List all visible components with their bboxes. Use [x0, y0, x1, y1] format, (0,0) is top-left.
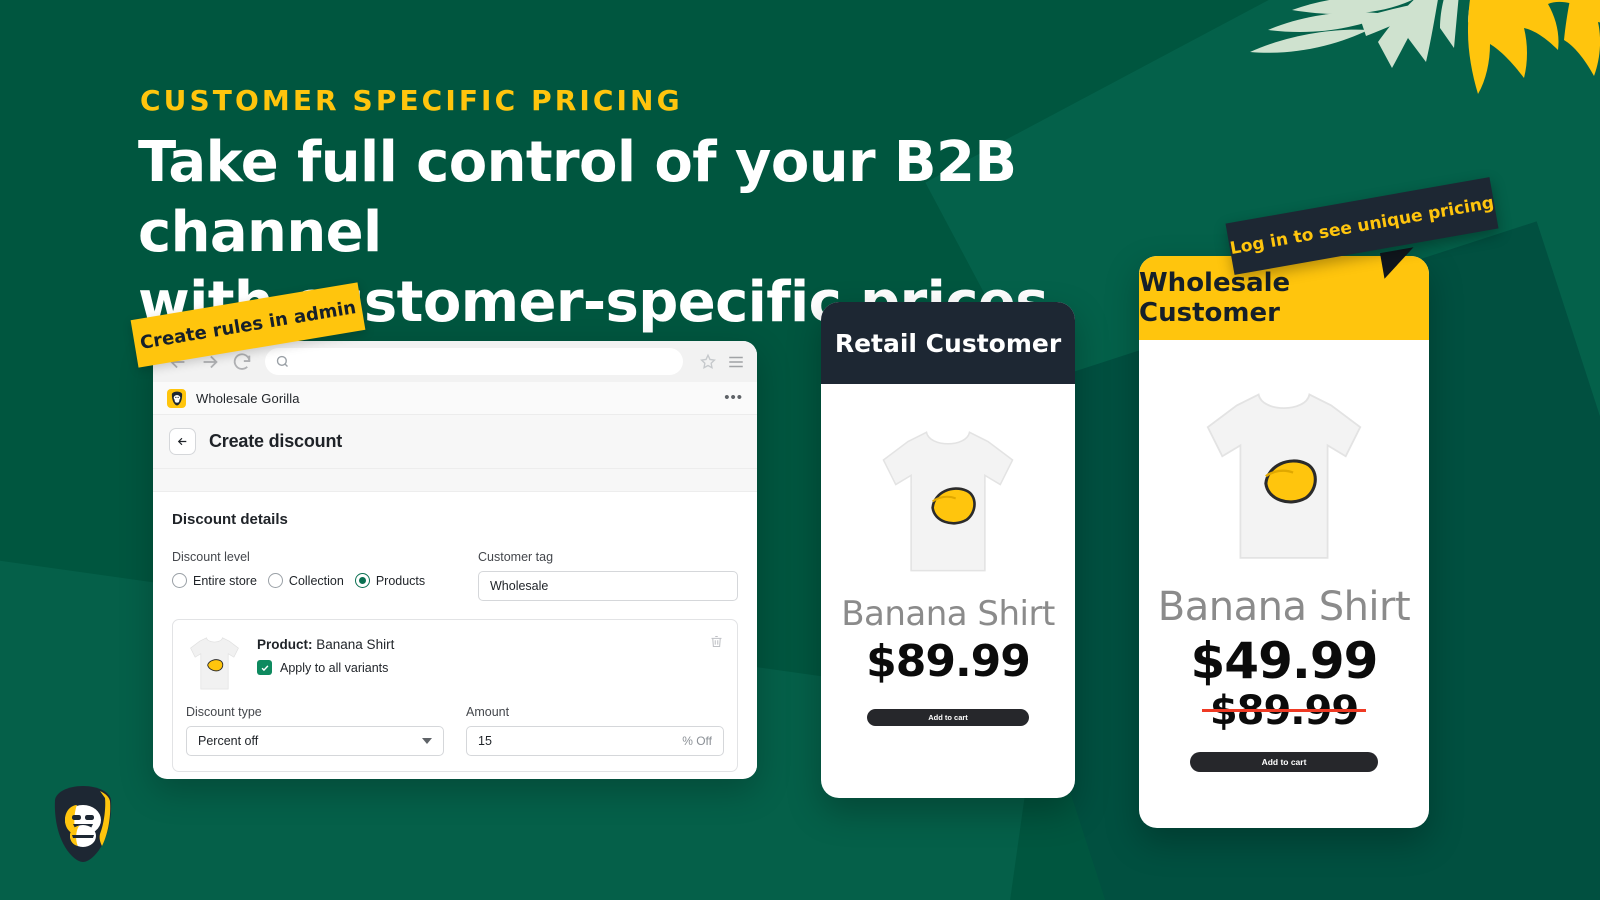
product-name-row: Product: Banana Shirt	[257, 637, 724, 652]
customer-tag-label: Customer tag	[478, 550, 738, 564]
arrow-left-icon	[176, 435, 189, 448]
radio-label: Products	[376, 574, 425, 588]
apply-all-variants-checkbox-row[interactable]: Apply to all variants	[257, 660, 724, 675]
chevron-down-icon	[422, 738, 432, 744]
delete-icon[interactable]	[709, 634, 724, 649]
radio-entire-store[interactable]: Entire store	[172, 573, 257, 588]
discount-level-label: Discount level	[172, 550, 452, 564]
radio-circle-icon	[268, 573, 283, 588]
wholesale-customer-card: Wholesale Customer Banana Shirt $49.99 $…	[1139, 256, 1429, 828]
product-discount-card: Product: Banana Shirt Apply to all varia…	[172, 619, 738, 772]
app-name-label: Wholesale Gorilla	[196, 391, 300, 406]
checkbox-checked-icon	[257, 660, 272, 675]
wholesale-gorilla-logo	[50, 784, 116, 864]
page-header: Create discount	[153, 415, 757, 469]
retail-product-name: Banana Shirt	[841, 594, 1055, 634]
product-image-banana-shirt	[1191, 380, 1377, 576]
amount-label: Amount	[466, 705, 724, 719]
wholesale-product-name: Banana Shirt	[1158, 584, 1410, 630]
promo-banner: CUSTOMER SPECIFIC PRICING Take full cont…	[0, 0, 1600, 900]
sub-toolbar	[153, 469, 757, 492]
retail-add-to-cart-button[interactable]: Add to cart	[867, 709, 1029, 726]
headline-line-1: Take full control of your B2B channel	[138, 130, 1016, 265]
retail-price: $89.99	[866, 636, 1030, 687]
app-bar: Wholesale Gorilla •••	[153, 382, 757, 415]
radio-products[interactable]: Products	[355, 573, 425, 588]
retail-customer-card: Retail Customer Banana Shirt $89.99 Add …	[821, 302, 1075, 798]
radio-label: Collection	[289, 574, 344, 588]
search-icon	[275, 354, 290, 369]
discount-type-group: Discount type Percent off	[186, 705, 444, 756]
discount-type-label: Discount type	[186, 705, 444, 719]
retail-card-header: Retail Customer	[821, 302, 1075, 384]
address-bar[interactable]	[265, 348, 683, 375]
amount-group: Amount 15 % Off	[466, 705, 724, 756]
bookmark-star-icon[interactable]	[699, 353, 717, 371]
radio-label: Entire store	[193, 574, 257, 588]
reload-icon[interactable]	[231, 351, 253, 373]
tropical-leaves-decoration	[1240, 0, 1600, 132]
wholesale-add-to-cart-button[interactable]: Add to cart	[1190, 752, 1378, 772]
discount-type-value: Percent off	[198, 734, 258, 748]
app-more-options-icon[interactable]: •••	[724, 394, 743, 402]
back-button[interactable]	[169, 428, 196, 455]
wholesale-compare-at-price-wrap: $89.99	[1210, 688, 1358, 734]
radio-circle-selected-icon	[355, 573, 370, 588]
wholesale-price: $49.99	[1191, 632, 1378, 690]
discount-form: Discount details Discount level Entire s…	[153, 492, 757, 772]
radio-circle-icon	[172, 573, 187, 588]
browser-window-mockup: Wholesale Gorilla ••• Create discount Di…	[153, 341, 757, 779]
amount-input[interactable]: 15 % Off	[466, 726, 724, 756]
app-favicon-icon	[167, 389, 186, 408]
discount-level-group: Discount level Entire store Collection	[172, 550, 452, 601]
product-name-value: Banana Shirt	[316, 637, 394, 652]
section-title-discount-details: Discount details	[172, 511, 738, 528]
apply-all-variants-label: Apply to all variants	[280, 661, 388, 675]
customer-tag-input[interactable]: Wholesale	[478, 571, 738, 601]
hamburger-menu-icon[interactable]	[727, 353, 745, 371]
strikethrough-line	[1202, 709, 1366, 712]
amount-suffix: % Off	[682, 734, 712, 748]
discount-page-title: Create discount	[209, 431, 342, 452]
product-thumbnail	[186, 633, 243, 695]
radio-collection[interactable]: Collection	[268, 573, 344, 588]
discount-type-select[interactable]: Percent off	[186, 726, 444, 756]
amount-value: 15	[478, 734, 492, 748]
eyebrow-label: CUSTOMER SPECIFIC PRICING	[140, 84, 683, 117]
product-image-banana-shirt	[869, 420, 1027, 586]
customer-tag-group: Customer tag Wholesale	[478, 550, 738, 601]
product-prefix-label: Product:	[257, 637, 313, 652]
